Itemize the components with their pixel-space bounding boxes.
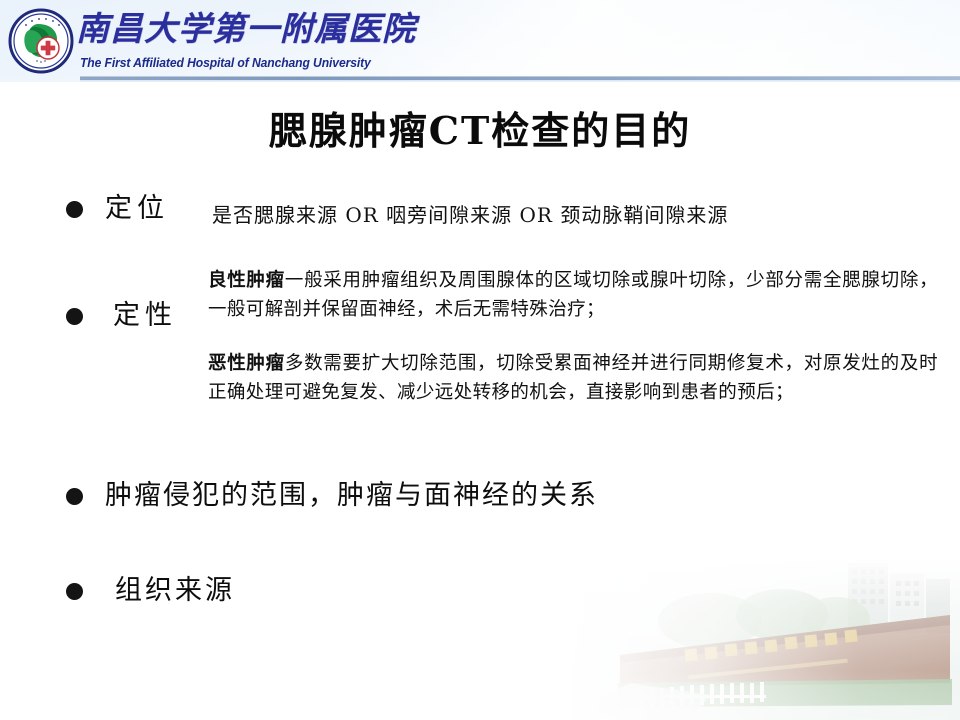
bullet-dot-icon	[66, 583, 83, 600]
bullet-dot-icon	[66, 308, 83, 325]
bullet-label-nature: 定性	[113, 299, 177, 333]
bullet-item-origin: 组织来源	[66, 574, 235, 608]
header-sheen	[330, 0, 960, 82]
slide-content: 腮腺肿瘤CT检查的目的 定位 是否腮腺来源 OR 咽旁间隙来源 OR 颈动脉鞘间…	[0, 84, 960, 720]
hospital-name-en: The First Affiliated Hospital of Nanchan…	[80, 56, 371, 70]
bullet-item-nature: 定性	[66, 299, 177, 333]
paragraph-benign-body: 一般采用肿瘤组织及周围腺体的区域切除或腺叶切除，少部分需全腮腺切除，一般可解剖并…	[208, 270, 938, 320]
paragraph-malignant-tumor: 恶性肿瘤多数需要扩大切除范围，切除受累面神经并进行同期修复术，对原发灶的及时正确…	[208, 350, 938, 407]
paragraph-malignant-lead: 恶性肿瘤	[208, 353, 285, 374]
page-title: 腮腺肿瘤CT检查的目的	[0, 100, 960, 155]
bullet-label-origin: 组织来源	[115, 574, 235, 608]
bullet-item-extent: 肿瘤侵犯的范围，肿瘤与面神经的关系	[66, 479, 598, 513]
paragraph-benign-tumor: 良性肿瘤一般采用肿瘤组织及周围腺体的区域切除或腺叶切除，少部分需全腮腺切除，一般…	[208, 267, 938, 324]
bullet-dot-icon	[66, 488, 83, 505]
bullet-label-extent: 肿瘤侵犯的范围，肿瘤与面神经的关系	[105, 479, 598, 513]
slide-canvas: 南昌大学第一附属医院 The First Affiliated Hospital…	[0, 0, 960, 720]
locate-detail-text: 是否腮腺来源 OR 咽旁间隙来源 OR 颈动脉鞘间隙来源	[212, 199, 728, 228]
bullet-label-locate: 定位	[105, 192, 169, 226]
bullet-dot-icon	[66, 201, 83, 218]
bullet-item-locate: 定位	[66, 192, 169, 226]
paragraph-benign-lead: 良性肿瘤	[208, 270, 285, 291]
paragraph-malignant-body: 多数需要扩大切除范围，切除受累面神经并进行同期修复术，对原发灶的及时正确处理可避…	[208, 353, 938, 403]
hospital-emblem-icon	[8, 8, 74, 74]
slide-header: 南昌大学第一附属医院 The First Affiliated Hospital…	[0, 0, 960, 82]
header-divider-shadow	[80, 80, 960, 82]
hospital-name-cn: 南昌大学第一附属医院	[76, 7, 376, 51]
